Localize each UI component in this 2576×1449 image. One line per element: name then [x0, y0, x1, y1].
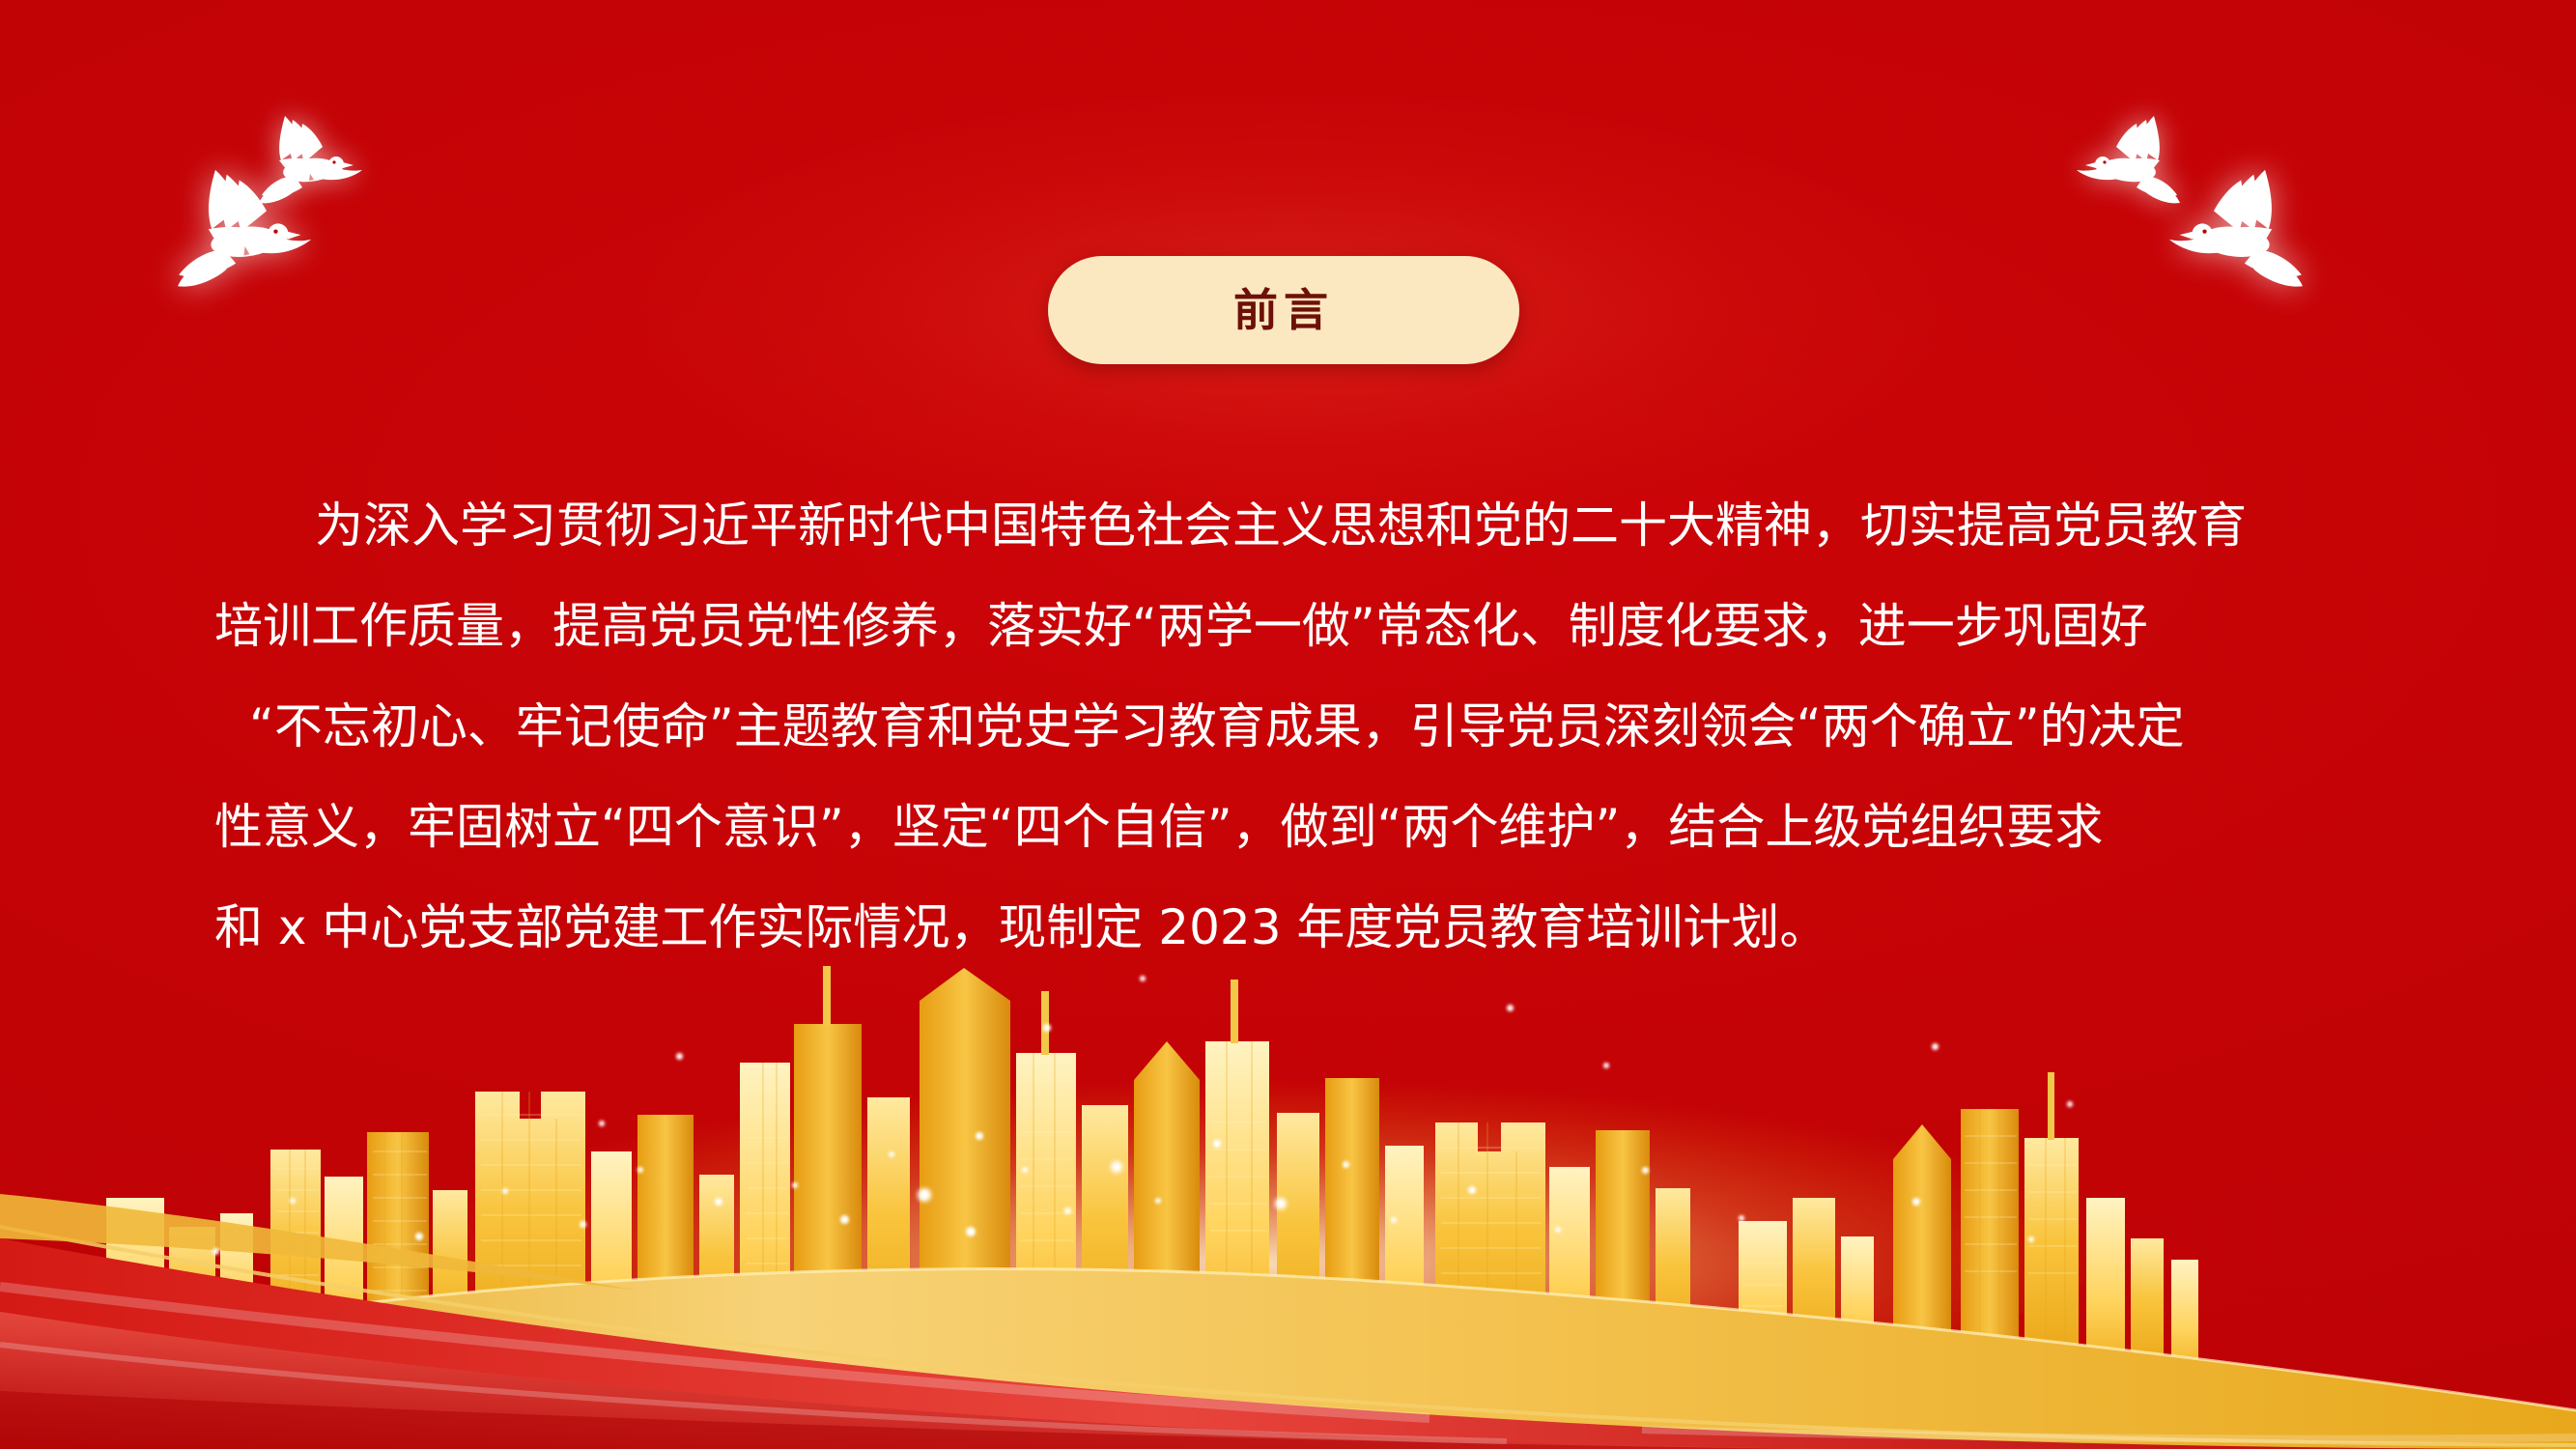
paragraph-line-4: 性意义，牢固树立“四个意识”，坚定“四个自信”，做到“两个维护”，结合上级党组织… [214, 777, 2361, 877]
paragraph-line-3: “不忘初心、牢记使命”主题教育和党史学习教育成果，引导党员深刻领会“两个确立”的… [214, 676, 2361, 777]
section-title-text: 前言 [1233, 288, 1334, 332]
paragraph-line-2: 培训工作质量，提高党员党性修养，落实好“两学一做”常态化、制度化要求，进一步巩固… [214, 576, 2361, 676]
slide-root: 前言 为深入学习贯彻习近平新时代中国特色社会主义思想和党的二十大精神，切实提高党… [0, 0, 2576, 1449]
section-title-badge: 前言 [1048, 256, 1519, 364]
paragraph-line-1: 为深入学习贯彻习近平新时代中国特色社会主义思想和党的二十大精神，切实提高党员教育 [214, 475, 2361, 576]
bottom-decoration-scene [0, 908, 2576, 1449]
dove-bottom-right-icon [2161, 165, 2332, 302]
preface-paragraph: 为深入学习贯彻习近平新时代中国特色社会主义思想和党的二十大精神，切实提高党员教育… [214, 475, 2361, 978]
scene-svg [0, 908, 2576, 1449]
dove-bottom-left-icon [150, 165, 321, 302]
